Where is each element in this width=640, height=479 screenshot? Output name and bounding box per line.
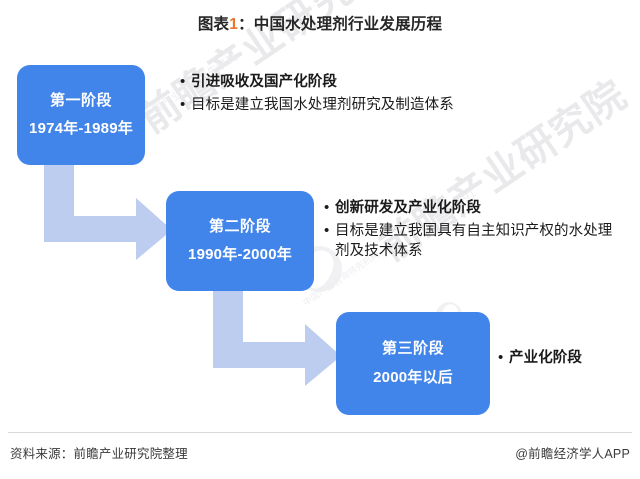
bullet-marker-icon: •	[324, 221, 335, 242]
list-item: • 目标是建立我国水处理剂研究及制造体系	[180, 95, 530, 116]
bullet-marker-icon: •	[498, 348, 509, 369]
bullet-marker-icon: •	[180, 95, 191, 116]
stage-3-bullets: • 产业化阶段	[498, 348, 638, 371]
figure-root: 前瞻产业研究院 中国产业咨询领先机构 前瞻产业研究院 8395991 中国产业咨…	[0, 0, 640, 479]
stage-1-name: 第一阶段	[50, 93, 112, 110]
attribution-note: @前瞻经济学人APP	[515, 443, 630, 462]
bullet-marker-icon: •	[324, 198, 335, 219]
stage-2-bullets: • 创新研发及产业化阶段 • 目标是建立我国具有自主知识产权的水处理剂及技术体系	[324, 198, 624, 263]
stage-box-1[interactable]: 第一阶段 1974年-1989年	[17, 65, 145, 165]
list-item: • 创新研发及产业化阶段	[324, 198, 624, 219]
title-separator: ：	[238, 16, 254, 33]
title-prefix: 图表	[198, 16, 229, 33]
source-note: 资料来源：前瞻产业研究院整理	[10, 443, 188, 462]
title-number: 1	[229, 16, 238, 33]
stage-2-period: 1990年-2000年	[188, 247, 292, 264]
arrow-stage2-to-stage3	[213, 290, 343, 386]
list-item: • 产业化阶段	[498, 348, 638, 369]
stage-3-bullet-1: 产业化阶段	[509, 348, 638, 368]
bullet-marker-icon: •	[180, 72, 191, 93]
stage-1-bullets: • 引进吸收及国产化阶段 • 目标是建立我国水处理剂研究及制造体系	[180, 72, 530, 117]
stage-1-period: 1974年-1989年	[29, 121, 133, 138]
stage-3-name: 第三阶段	[382, 341, 444, 358]
title-text: 中国水处理剂行业发展历程	[254, 16, 442, 33]
stage-3-period: 2000年以后	[373, 370, 453, 387]
stage-1-bullet-1: 引进吸收及国产化阶段	[191, 72, 530, 92]
footer-divider	[8, 432, 632, 433]
stage-1-bullet-2: 目标是建立我国水处理剂研究及制造体系	[191, 95, 530, 115]
list-item: • 引进吸收及国产化阶段	[180, 72, 530, 93]
stage-2-bullet-2: 目标是建立我国具有自主知识产权的水处理剂及技术体系	[335, 221, 624, 261]
stage-box-2[interactable]: 第二阶段 1990年-2000年	[166, 191, 314, 291]
stage-2-name: 第二阶段	[209, 219, 271, 236]
stage-box-3[interactable]: 第三阶段 2000年以后	[336, 312, 490, 415]
stage-2-bullet-1: 创新研发及产业化阶段	[335, 198, 624, 218]
page-title: 图表1：中国水处理剂行业发展历程	[0, 12, 640, 34]
arrow-stage1-to-stage2	[44, 164, 174, 260]
list-item: • 目标是建立我国具有自主知识产权的水处理剂及技术体系	[324, 221, 624, 261]
